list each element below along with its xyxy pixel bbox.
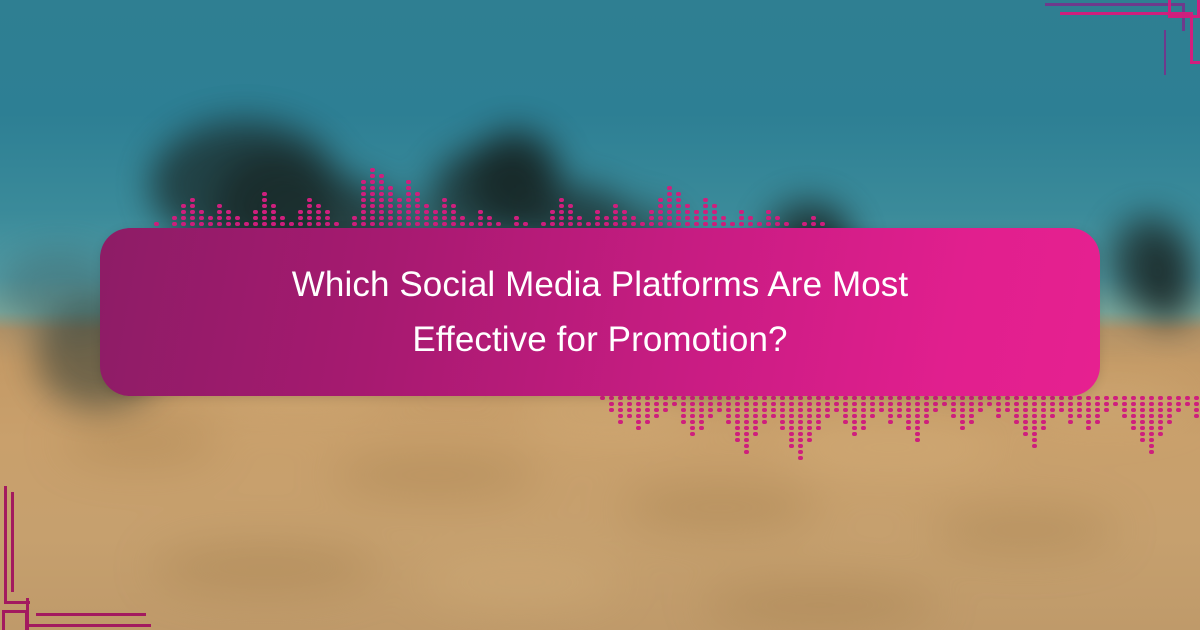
- waveform-dot: [1032, 414, 1037, 418]
- waveform-dot: [1194, 414, 1199, 418]
- waveform-dot: [1086, 408, 1091, 412]
- waveform-dot: [253, 210, 258, 214]
- waveform-dot: [406, 216, 411, 220]
- waveform-dot: [906, 414, 911, 418]
- waveform-dot: [681, 396, 686, 400]
- waveform-dot: [798, 438, 803, 442]
- waveform-dot: [609, 408, 614, 412]
- waveform-dot: [852, 414, 857, 418]
- waveform-dot: [1185, 402, 1190, 406]
- waveform-dot: [744, 444, 749, 448]
- headline-card: Which Social Media Platforms Are Most Ef…: [100, 228, 1100, 396]
- page-title: Which Social Media Platforms Are Most Ef…: [250, 257, 950, 368]
- waveform-dot: [618, 420, 623, 424]
- waveform-dot: [888, 402, 893, 406]
- waveform-dot: [442, 204, 447, 208]
- waveform-dot: [442, 216, 447, 220]
- share-card-canvas: Which Social Media Platforms Are Most Ef…: [0, 0, 1200, 630]
- waveform-dot: [514, 222, 519, 226]
- waveform-dot: [388, 192, 393, 196]
- waveform-dot: [361, 222, 366, 226]
- waveform-dot: [969, 408, 974, 412]
- waveform-dot: [1005, 408, 1010, 412]
- waveform-dot: [1167, 420, 1172, 424]
- waveform-dot: [1086, 402, 1091, 406]
- waveform-dot: [559, 204, 564, 208]
- waveform-bar: [397, 198, 402, 232]
- waveform-bar: [370, 168, 375, 232]
- waveform-dot: [352, 222, 357, 226]
- waveform-dot: [1140, 396, 1145, 400]
- waveform-dot: [789, 426, 794, 430]
- waveform-bar: [951, 396, 956, 418]
- waveform-bar: [1176, 396, 1181, 412]
- waveform-dot: [451, 216, 456, 220]
- waveform-dot: [649, 222, 654, 226]
- waveform-dot: [379, 186, 384, 190]
- waveform-dot: [1014, 414, 1019, 418]
- waveform-bar: [879, 396, 884, 412]
- waveform-dot: [906, 408, 911, 412]
- waveform-dot: [1131, 414, 1136, 418]
- waveform-dot: [744, 450, 749, 454]
- waveform-dot: [181, 210, 186, 214]
- waveform-dot: [1140, 402, 1145, 406]
- waveform-dot: [361, 204, 366, 208]
- waveform-dot: [406, 186, 411, 190]
- waveform-dot: [708, 408, 713, 412]
- waveform-dot: [172, 222, 177, 226]
- waveform-dot: [636, 420, 641, 424]
- waveform-dot: [753, 414, 758, 418]
- waveform-dot: [735, 438, 740, 442]
- waveform-dot: [798, 444, 803, 448]
- waveform-dot: [487, 222, 492, 226]
- waveform-dot: [1023, 414, 1028, 418]
- waveform-dot: [888, 408, 893, 412]
- waveform-dot: [1050, 414, 1055, 418]
- waveform-bar: [379, 174, 384, 232]
- waveform-dot: [631, 222, 636, 226]
- waveform-dot: [1176, 408, 1181, 412]
- waveform-dot: [924, 408, 929, 412]
- waveform-dot: [798, 426, 803, 430]
- waveform-dot: [748, 216, 753, 220]
- waveform-dot: [744, 432, 749, 436]
- waveform-dot: [1041, 420, 1046, 424]
- waveform-dot: [1032, 402, 1037, 406]
- waveform-dot: [771, 396, 776, 400]
- waveform-dot: [780, 396, 785, 400]
- waveform-bar: [618, 396, 623, 424]
- waveform-dot: [1131, 426, 1136, 430]
- waveform-dot: [181, 204, 186, 208]
- waveform-dot: [451, 204, 456, 208]
- waveform-dot: [1095, 414, 1100, 418]
- waveform-dot: [388, 186, 393, 190]
- waveform-dot: [960, 408, 965, 412]
- waveform-dot: [726, 414, 731, 418]
- waveform-dot: [780, 426, 785, 430]
- waveform-bar: [726, 396, 731, 424]
- waveform-dot: [370, 204, 375, 208]
- waveform-dot: [816, 408, 821, 412]
- waveform-dot: [969, 420, 974, 424]
- waveform-dot: [1104, 396, 1109, 400]
- waveform-dot: [735, 420, 740, 424]
- waveform-dot: [1140, 438, 1145, 442]
- waveform-bar: [667, 186, 672, 232]
- waveform-dot: [739, 216, 744, 220]
- waveform-dot: [208, 222, 213, 226]
- waveform-dot: [861, 426, 866, 430]
- waveform-bar: [771, 396, 776, 418]
- waveform-bar: [708, 396, 713, 418]
- waveform-dot: [379, 192, 384, 196]
- waveform-dot: [798, 402, 803, 406]
- waveform-dot: [627, 414, 632, 418]
- waveform-bar: [717, 396, 722, 412]
- waveform-dot: [636, 426, 641, 430]
- waveform-dot: [433, 210, 438, 214]
- waveform-dot: [397, 210, 402, 214]
- waveform-dot: [942, 396, 947, 400]
- waveform-dot: [780, 408, 785, 412]
- waveform-bar: [690, 396, 695, 436]
- waveform-dot: [825, 402, 830, 406]
- waveform-dot: [852, 426, 857, 430]
- waveform-dot: [1005, 396, 1010, 400]
- waveform-dot: [1158, 408, 1163, 412]
- waveform-dot: [672, 396, 677, 400]
- waveform-dot: [654, 408, 659, 412]
- waveform-dot: [1068, 420, 1073, 424]
- waveform-dot: [1095, 402, 1100, 406]
- waveform-dot: [676, 210, 681, 214]
- waveform-dot: [307, 216, 312, 220]
- waveform-dot: [699, 402, 704, 406]
- waveform-dot: [1095, 408, 1100, 412]
- waveform-dot: [685, 204, 690, 208]
- waveform-dot: [181, 216, 186, 220]
- waveform-dot: [762, 402, 767, 406]
- waveform-dot: [951, 402, 956, 406]
- waveform-dot: [870, 402, 875, 406]
- waveform-bar: [388, 186, 393, 232]
- waveform-dot: [622, 216, 627, 220]
- waveform-dot: [307, 204, 312, 208]
- waveform-dot: [744, 408, 749, 412]
- corner-bracket-top-right: [1040, 0, 1200, 120]
- waveform-dot: [861, 414, 866, 418]
- waveform-dot: [271, 216, 276, 220]
- waveform-dot: [789, 438, 794, 442]
- waveform-dot: [154, 222, 159, 226]
- waveform-dot: [1140, 420, 1145, 424]
- waveform-dot: [1005, 402, 1010, 406]
- waveform-dot: [523, 222, 528, 226]
- waveform-bar: [654, 396, 659, 418]
- waveform-dot: [1122, 396, 1127, 400]
- waveform-dot: [388, 198, 393, 202]
- waveform-dot: [406, 198, 411, 202]
- waveform-dot: [316, 222, 321, 226]
- waveform-dot: [289, 222, 294, 226]
- waveform-dot: [451, 222, 456, 226]
- waveform-dot: [996, 414, 1001, 418]
- waveform-dot: [559, 222, 564, 226]
- waveform-dot: [361, 198, 366, 202]
- waveform-dot: [217, 204, 222, 208]
- waveform-dot: [690, 402, 695, 406]
- waveform-bar: [762, 396, 767, 424]
- waveform-dot: [870, 408, 875, 412]
- waveform-dot: [451, 210, 456, 214]
- waveform-dot: [262, 222, 267, 226]
- waveform-dot: [388, 216, 393, 220]
- waveform-dot: [550, 222, 555, 226]
- waveform-dot: [370, 186, 375, 190]
- waveform-dot: [676, 204, 681, 208]
- waveform-dot: [406, 210, 411, 214]
- waveform-dot: [915, 402, 920, 406]
- waveform-dot: [658, 222, 663, 226]
- waveform-dot: [663, 402, 668, 406]
- waveform-dot: [1014, 408, 1019, 412]
- waveform-dot: [676, 222, 681, 226]
- waveform-dot: [699, 426, 704, 430]
- waveform-dot: [915, 408, 920, 412]
- waveform-bar: [978, 396, 983, 412]
- waveform-dot: [379, 174, 384, 178]
- waveform-bar: [1023, 396, 1028, 436]
- waveform-bar: [609, 396, 614, 412]
- waveform-dot: [415, 222, 420, 226]
- waveform-dot: [1023, 396, 1028, 400]
- corner-line-tail-vertical: [1164, 30, 1166, 75]
- waveform-bar: [942, 396, 947, 406]
- waveform-dot: [1095, 420, 1100, 424]
- waveform-dot: [559, 210, 564, 214]
- waveform-dot: [1158, 432, 1163, 436]
- waveform-bar: [406, 180, 411, 232]
- waveform-dot: [843, 420, 848, 424]
- waveform-dot: [663, 408, 668, 412]
- waveform-bar: [559, 198, 564, 232]
- waveform-dot: [825, 396, 830, 400]
- waveform-bar: [1014, 396, 1019, 424]
- waveform-dot: [1176, 402, 1181, 406]
- waveform-dot: [816, 420, 821, 424]
- waveform-dot: [807, 420, 812, 424]
- waveform-dot: [906, 402, 911, 406]
- waveform-dot: [915, 432, 920, 436]
- waveform-dot: [744, 426, 749, 430]
- waveform-dot: [717, 402, 722, 406]
- waveform-dot: [726, 402, 731, 406]
- waveform-dot: [618, 402, 623, 406]
- waveform-dot: [775, 222, 780, 226]
- waveform-dot: [1086, 396, 1091, 400]
- waveform-bar: [1185, 396, 1190, 406]
- waveform-dot: [649, 216, 654, 220]
- waveform-dot: [726, 408, 731, 412]
- waveform-bar: [1086, 396, 1091, 430]
- waveform-dot: [807, 396, 812, 400]
- waveform-dot: [690, 396, 695, 400]
- waveform-dot: [190, 198, 195, 202]
- waveform-dot: [915, 426, 920, 430]
- waveform-dot: [1131, 420, 1136, 424]
- waveform-dot: [1194, 396, 1199, 400]
- waveform-dot: [852, 408, 857, 412]
- waveform-bar: [960, 396, 965, 430]
- waveform-dot: [852, 402, 857, 406]
- waveform-dot: [924, 396, 929, 400]
- corner-line-inner-vertical: [11, 492, 14, 592]
- waveform-dot: [370, 174, 375, 178]
- waveform-dot: [217, 216, 222, 220]
- waveform-dot: [1068, 396, 1073, 400]
- waveform-bar: [645, 396, 650, 424]
- waveform-dot: [1032, 444, 1037, 448]
- waveform-bar: [825, 396, 830, 418]
- waveform-dot: [1140, 426, 1145, 430]
- waveform-dot: [681, 408, 686, 412]
- waveform-dot: [897, 408, 902, 412]
- waveform-dot: [649, 210, 654, 214]
- waveform-dot: [1086, 420, 1091, 424]
- waveform-dot: [771, 408, 776, 412]
- waveform-dot: [244, 222, 249, 226]
- waveform-dot: [969, 414, 974, 418]
- waveform-dot: [744, 420, 749, 424]
- waveform-bar: [906, 396, 911, 430]
- waveform-dot: [712, 216, 717, 220]
- waveform-dot: [960, 420, 965, 424]
- waveform-bar: [190, 198, 195, 232]
- waveform-dot: [379, 204, 384, 208]
- waveform-dot: [861, 402, 866, 406]
- waveform-dot: [789, 408, 794, 412]
- waveform-dot: [586, 222, 591, 226]
- waveform-dot: [708, 396, 713, 400]
- waveform-dot: [843, 396, 848, 400]
- waveform-dot: [568, 216, 573, 220]
- waveform-dot: [699, 408, 704, 412]
- waveform-dot: [672, 402, 677, 406]
- waveform-bar: [1158, 396, 1163, 436]
- waveform-dot: [789, 444, 794, 448]
- waveform-dot: [730, 222, 735, 226]
- waveform-dot: [550, 216, 555, 220]
- waveform-dot: [645, 402, 650, 406]
- waveform-dot: [415, 204, 420, 208]
- waveform-dot: [379, 180, 384, 184]
- waveform-dot: [370, 198, 375, 202]
- waveform-dot: [627, 408, 632, 412]
- waveform-bar: [1077, 396, 1082, 418]
- waveform-dot: [1041, 408, 1046, 412]
- waveform-dot: [744, 414, 749, 418]
- waveform-dot: [1032, 396, 1037, 400]
- waveform-dot: [690, 426, 695, 430]
- waveform-bar: [672, 396, 677, 406]
- waveform-dot: [816, 426, 821, 430]
- waveform-bar: [1005, 396, 1010, 412]
- waveform-dot: [996, 396, 1001, 400]
- waveform-dot: [735, 426, 740, 430]
- waveform-dot: [604, 222, 609, 226]
- waveform-dot: [699, 420, 704, 424]
- waveform-dot: [676, 192, 681, 196]
- waveform-dot: [654, 414, 659, 418]
- waveform-dot: [870, 396, 875, 400]
- waveform-dot: [424, 210, 429, 214]
- waveform-dot: [1167, 396, 1172, 400]
- waveform-bar: [703, 198, 708, 232]
- waveform-dot: [780, 402, 785, 406]
- waveform-dot: [753, 408, 758, 412]
- waveform-dot: [658, 216, 663, 220]
- waveform-dot: [897, 396, 902, 400]
- waveform-dot: [1158, 402, 1163, 406]
- waveform-dot: [906, 396, 911, 400]
- waveform-dot: [1023, 426, 1028, 430]
- waveform-dot: [636, 408, 641, 412]
- waveform-dot: [397, 204, 402, 208]
- waveform-dot: [1077, 396, 1082, 400]
- waveform-dot: [676, 216, 681, 220]
- waveform-dot: [478, 216, 483, 220]
- waveform-dot: [753, 402, 758, 406]
- waveform-dot: [442, 222, 447, 226]
- waveform-dot: [217, 222, 222, 226]
- waveform-dot: [1068, 414, 1073, 418]
- waveform-dot: [1131, 402, 1136, 406]
- waveform-dot: [1077, 402, 1082, 406]
- waveform-dot: [676, 198, 681, 202]
- waveform-dot: [1068, 408, 1073, 412]
- waveform-dot: [1050, 396, 1055, 400]
- waveform-bar: [627, 396, 632, 418]
- waveform-dot: [622, 210, 627, 214]
- waveform-dot: [726, 420, 731, 424]
- waveform-dot: [370, 210, 375, 214]
- waveform-dot: [1032, 426, 1037, 430]
- waveform-dot: [433, 216, 438, 220]
- waveform-dot: [627, 396, 632, 400]
- waveform-dot: [843, 408, 848, 412]
- waveform-dot: [933, 402, 938, 406]
- waveform-bar: [834, 396, 839, 412]
- waveform-dot: [802, 222, 807, 226]
- waveform-dot: [888, 420, 893, 424]
- waveform-dot: [388, 222, 393, 226]
- waveform-dot: [190, 216, 195, 220]
- waveform-dot: [226, 210, 231, 214]
- waveform-dot: [397, 222, 402, 226]
- waveform-dot: [645, 396, 650, 400]
- waveform-dot: [568, 210, 573, 214]
- waveform-bar: [262, 192, 267, 232]
- waveform-dot: [1041, 402, 1046, 406]
- waveform-dot: [397, 198, 402, 202]
- waveform-bar: [789, 396, 794, 448]
- waveform-bar: [676, 192, 681, 232]
- waveform-dot: [996, 408, 1001, 412]
- waveform-dot: [654, 396, 659, 400]
